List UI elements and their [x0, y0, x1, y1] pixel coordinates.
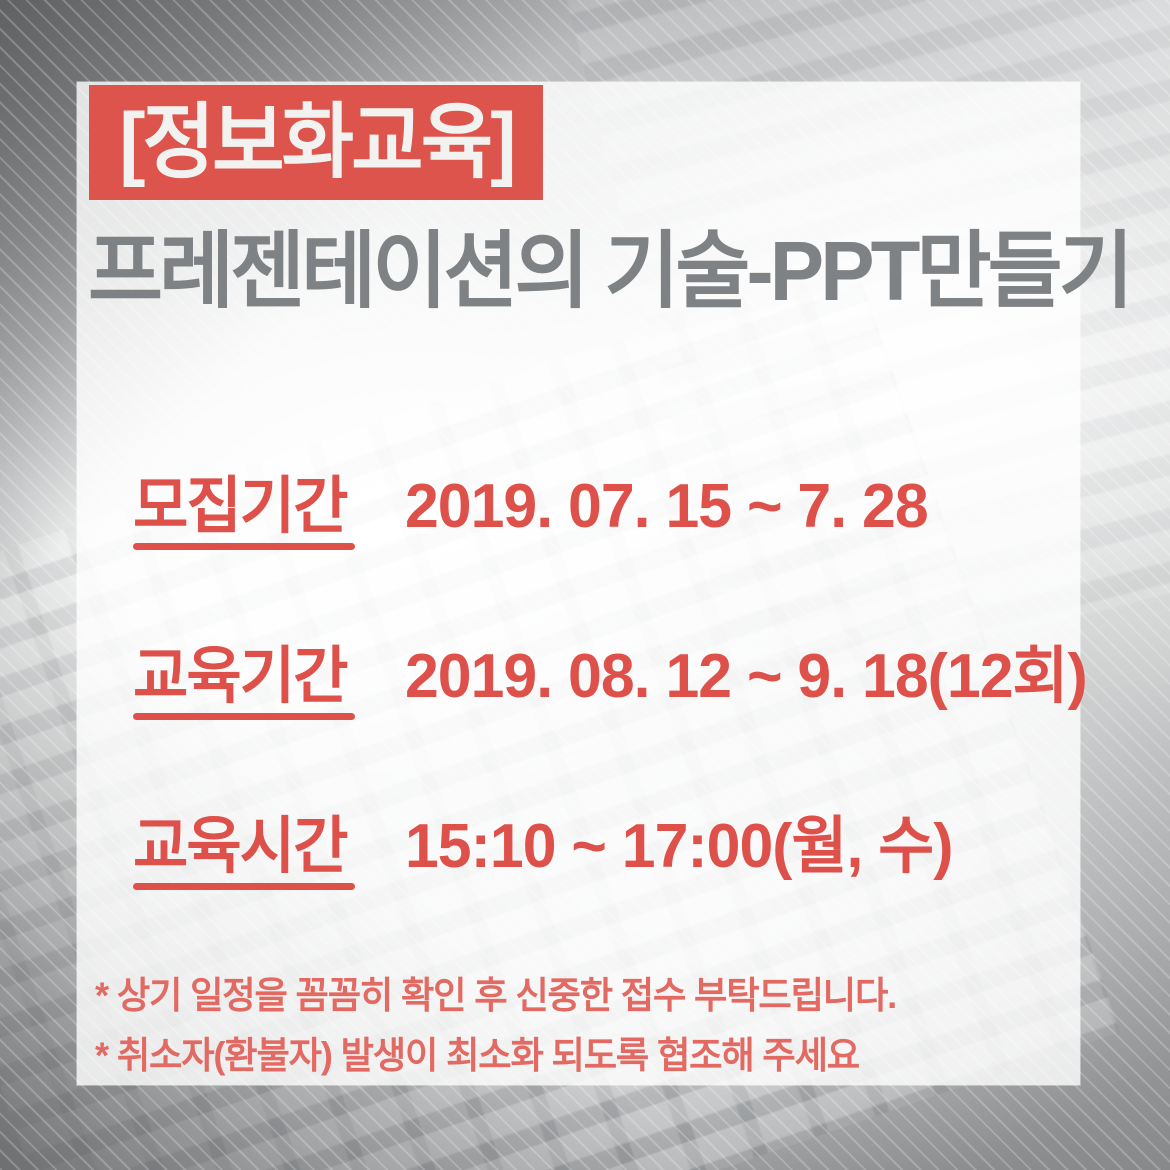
footnote-cancellation: * 취소자(환불자) 발생이 최소화 되도록 협조해 주세요 — [95, 1026, 1036, 1086]
schedule-row-course-period: 교육기간 2019. 08. 12 ~ 9. 18(12회) — [133, 625, 1093, 795]
category-badge-label: [정보화교육] — [119, 102, 513, 184]
category-badge: [정보화교육] — [89, 85, 543, 200]
label-underline — [133, 543, 355, 550]
schedule-value-course-period: 2019. 08. 12 ~ 9. 18(12회) — [405, 625, 1087, 715]
schedule-list: 모집기간 2019. 07. 15 ~ 7. 28 교육기간 2019. 08.… — [133, 455, 1093, 965]
footnote-list: * 상기 일정을 꼼꼼히 확인 후 신중한 접수 부탁드립니다. * 취소자(환… — [95, 966, 1055, 1086]
schedule-row-course-time: 교육시간 15:10 ~ 17:00(월, 수) — [133, 795, 1093, 965]
label-underline — [133, 713, 355, 720]
poster-content: [정보화교육] 프레젠테이션의 기술-PPT만들기 모집기간 2019. 07.… — [0, 0, 1170, 1170]
footnote-schedule-confirm: * 상기 일정을 꼼꼼히 확인 후 신중한 접수 부탁드립니다. — [95, 966, 1036, 1026]
schedule-label-course-period: 교육기간 — [133, 625, 347, 715]
schedule-label-course-time: 교육시간 — [133, 795, 347, 885]
schedule-label-recruitment: 모집기간 — [133, 455, 347, 545]
schedule-value-course-time: 15:10 ~ 17:00(월, 수) — [405, 795, 952, 885]
schedule-value-recruitment: 2019. 07. 15 ~ 7. 28 — [405, 471, 928, 542]
promotional-poster: [정보화교육] 프레젠테이션의 기술-PPT만들기 모집기간 2019. 07.… — [0, 0, 1170, 1170]
label-underline — [133, 883, 355, 890]
schedule-row-recruitment: 모집기간 2019. 07. 15 ~ 7. 28 — [133, 455, 1093, 625]
page-title: 프레젠테이션의 기술-PPT만들기 — [88, 226, 1130, 317]
